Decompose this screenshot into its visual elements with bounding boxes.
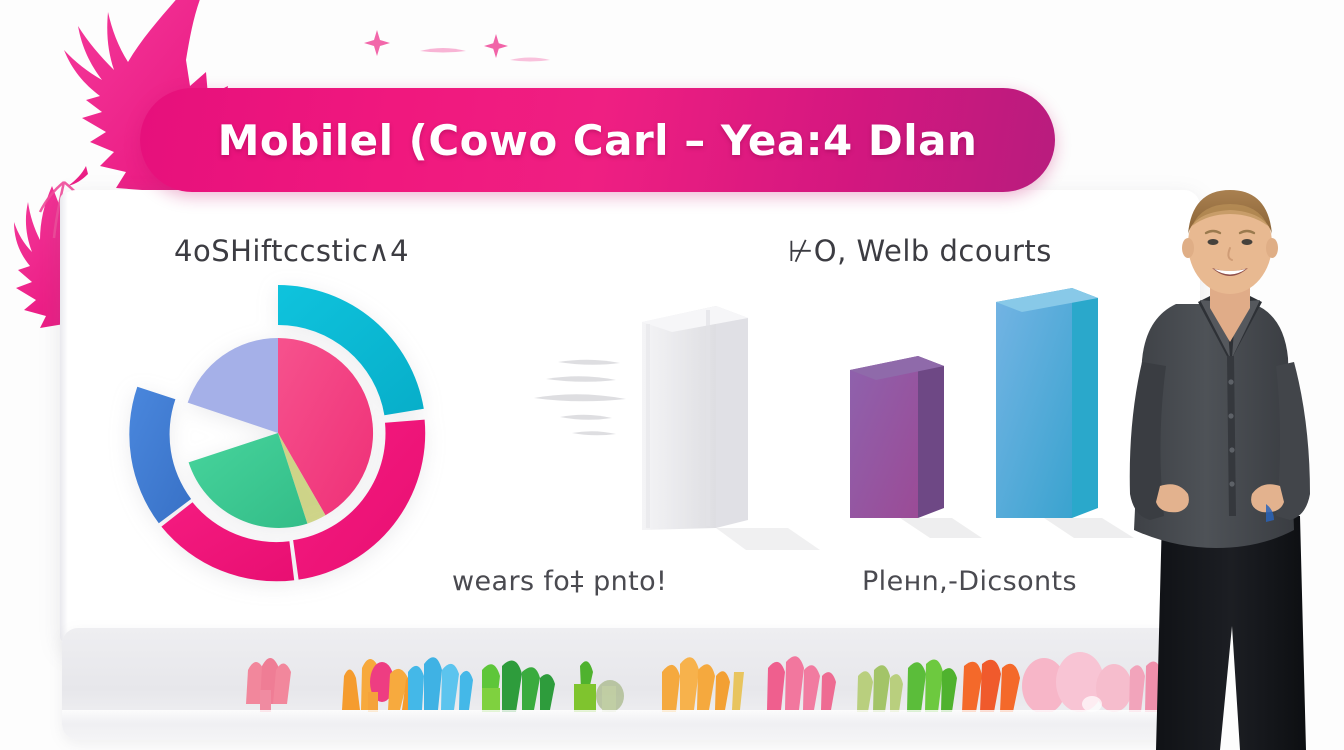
pink-sparkle	[484, 34, 508, 63]
slide-stage: Mobilel (Cowo Carl – Yea:4 Dlan 4oSHiftc…	[0, 0, 1344, 750]
left-section-heading: 4oSHiftccstic∧4	[174, 234, 409, 268]
bar-blue	[996, 288, 1098, 518]
left-section-caption: wears fo‡ pnto!	[452, 566, 667, 597]
pink-sparkle	[420, 44, 466, 62]
decorative-plant-strip	[62, 646, 1212, 712]
plant-item	[408, 657, 473, 710]
right-section-caption: Pleнn,-Dicsonts	[862, 566, 1077, 597]
donut-outer-ring	[129, 285, 425, 581]
title-banner: Mobilel (Cowo Carl – Yea:4 Dlan	[140, 88, 1055, 192]
bar-purple	[850, 356, 944, 518]
footer-shelf	[62, 710, 1212, 724]
donut-inner-pie	[188, 338, 373, 528]
ring-segment-blue	[129, 387, 191, 524]
page-title: Mobilel (Cowo Carl – Yea:4 Dlan	[218, 116, 978, 165]
plant-item	[662, 657, 744, 712]
plant-item	[767, 656, 836, 710]
footer-panel	[62, 628, 1212, 740]
bar-gray	[642, 306, 748, 530]
presenter-photo	[1114, 186, 1344, 750]
bar-chart-3d	[520, 280, 1160, 560]
plant-item	[574, 661, 624, 712]
plant-item	[482, 661, 555, 712]
pie-wedge-periwinkle	[188, 338, 278, 433]
plant-item	[246, 658, 291, 712]
pink-sparkle	[364, 30, 390, 61]
pink-sparkle	[510, 52, 550, 70]
card-left-edge	[60, 192, 68, 644]
plant-item	[962, 660, 1020, 712]
right-section-heading: ⊬O, Welb dcourts	[788, 234, 1052, 268]
plant-item	[857, 660, 957, 713]
donut-pie-chart	[78, 278, 468, 588]
